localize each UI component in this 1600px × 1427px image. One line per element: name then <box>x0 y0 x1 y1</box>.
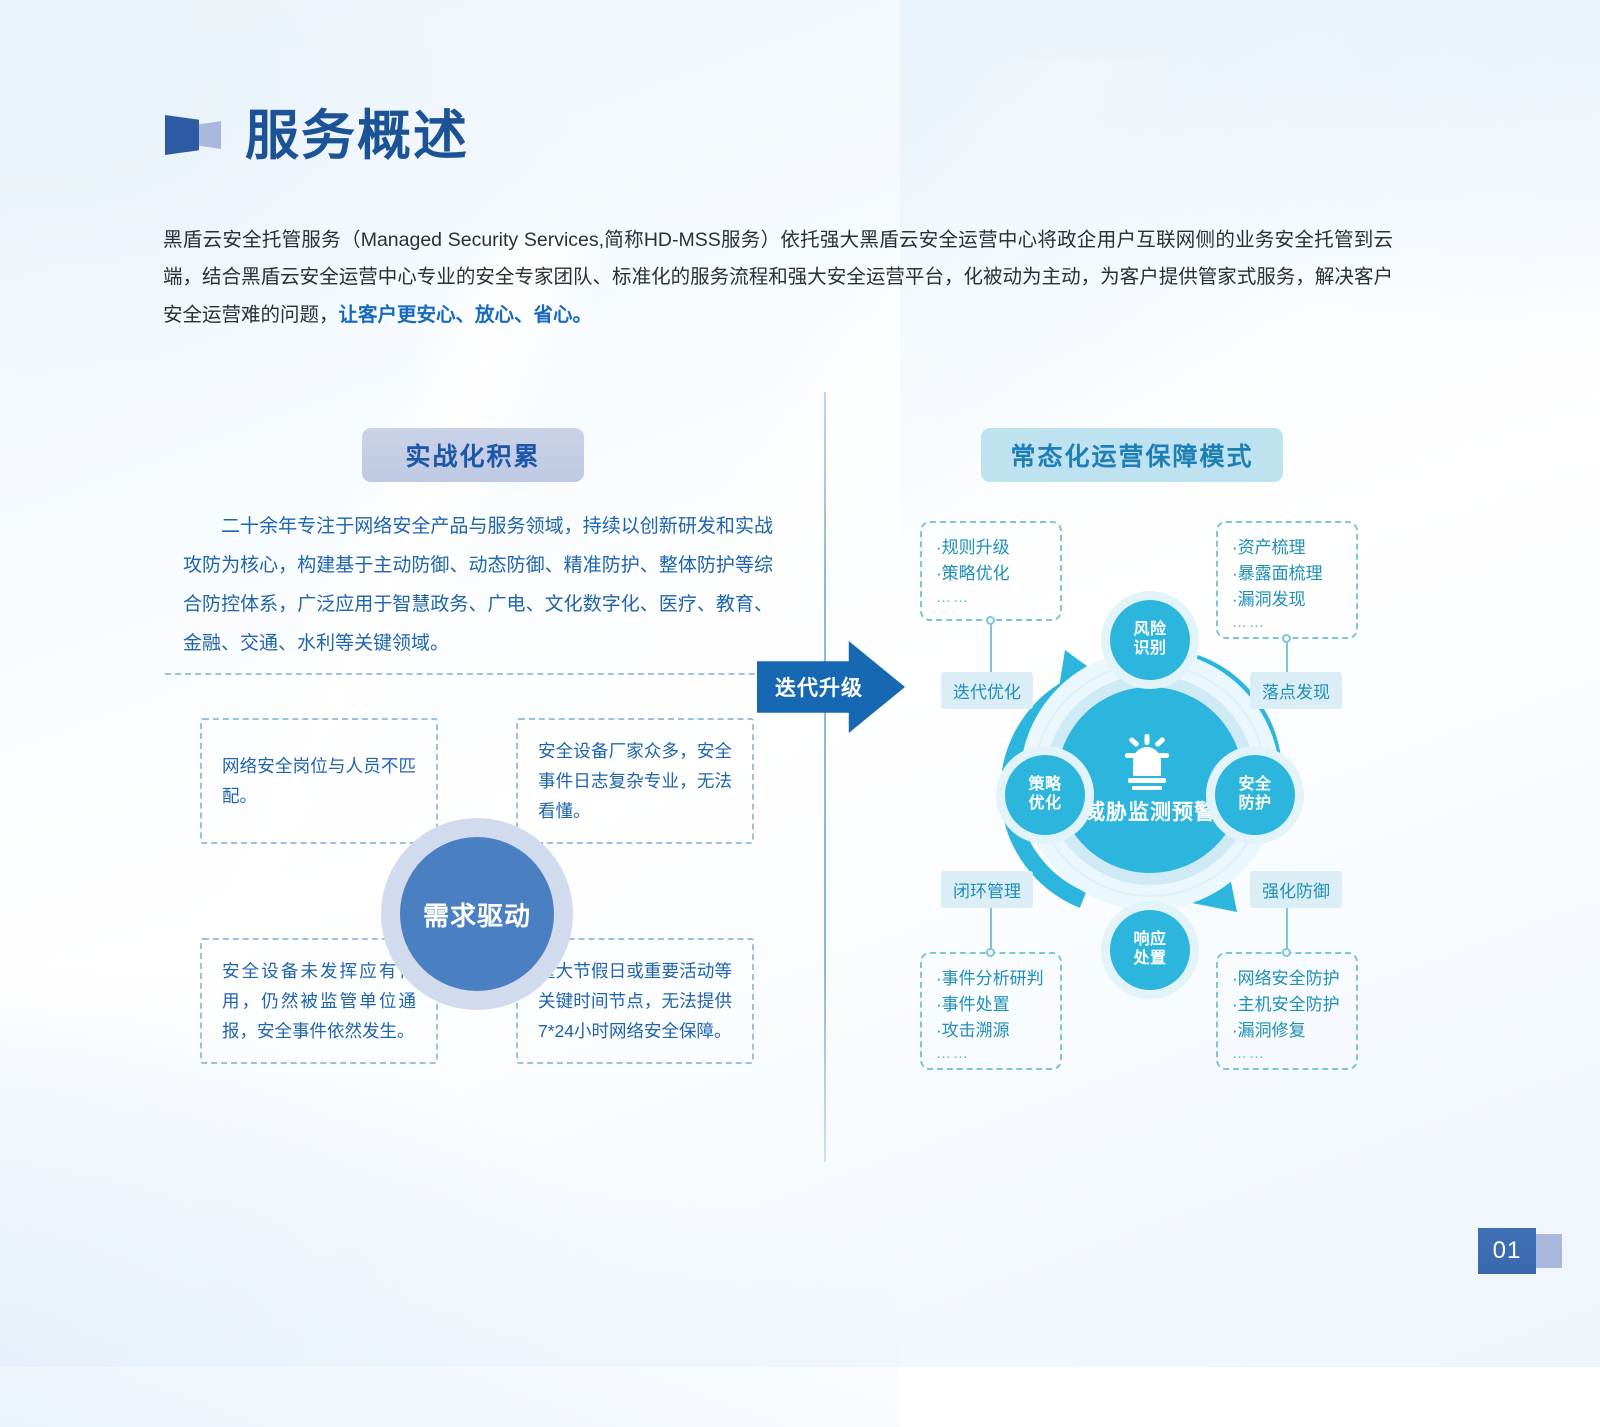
left-dashed-separator <box>165 673 805 675</box>
pain-point-box: 安全设备厂家众多，安全事件日志复杂专业，无法看懂。 <box>516 718 754 844</box>
left-badge-label: 实战化积累 <box>405 437 540 473</box>
node-line1: 安全 <box>1238 776 1271 793</box>
left-section-badge: 实战化积累 <box>362 428 584 482</box>
operations-cycle-diagram: 威胁监测预警 风险识别 安全防护 响应处置 策略优化 <box>1005 600 1295 990</box>
callout-item: ·策略优化 <box>936 561 1046 587</box>
bg-streak-4 <box>0 1007 900 1427</box>
stage-tag-iteration: 迭代优化 <box>941 672 1033 709</box>
callout-item: ·暴露面梳理 <box>1232 561 1342 587</box>
node-line1: 策略 <box>1028 776 1061 793</box>
page-number-accent <box>1536 1234 1562 1268</box>
connector-stem <box>990 906 992 952</box>
intro-paragraph: 黑盾云安全托管服务（Managed Security Services,简称HD… <box>163 222 1393 334</box>
cycle-node-protect: 安全防护 <box>1215 755 1295 835</box>
page-number-badge: 01 <box>1478 1228 1562 1274</box>
pain-point-text: 网络安全岗位与人员不匹配。 <box>202 751 436 811</box>
connector-dot <box>986 616 995 625</box>
iteration-arrow: 迭代升级 <box>757 641 905 733</box>
callout-item: ·攻击溯源 <box>936 1018 1046 1044</box>
cycle-node-risk: 风险识别 <box>1110 600 1190 680</box>
core-circle: 威胁监测预警 <box>1057 687 1243 873</box>
iteration-arrow-label: 迭代升级 <box>775 672 863 702</box>
demand-driven-circle: 需求驱动 <box>400 837 554 991</box>
slide-background: 服务概述 黑盾云安全托管服务（Managed Security Services… <box>0 0 1600 1367</box>
column-divider <box>824 392 826 1162</box>
callout-item: ·漏洞修复 <box>1232 1018 1342 1044</box>
node-line2: 防护 <box>1238 795 1271 812</box>
right-badge-label: 常态化运营保障模式 <box>1010 437 1253 473</box>
intro-highlight: 让客户更安心、放心、省心。 <box>339 304 593 326</box>
pain-point-text: 安全设备厂家众多，安全事件日志复杂专业，无法看懂。 <box>518 736 752 826</box>
page-title: 服务概述 <box>245 108 469 162</box>
node-line2: 处置 <box>1133 950 1166 967</box>
callout-item: ·主机安全防护 <box>1232 992 1342 1018</box>
right-section-badge: 常态化运营保障模式 <box>981 428 1283 482</box>
cycle-node-respond: 响应处置 <box>1110 910 1190 990</box>
page-number-box: 01 <box>1478 1228 1536 1274</box>
demand-driven-label: 需求驱动 <box>423 896 531 933</box>
callout-ellipsis: …… <box>936 1043 1046 1066</box>
callout-item: ·资产梳理 <box>1232 535 1342 561</box>
page-header: 服务概述 <box>165 108 469 162</box>
connector-stem <box>990 621 992 673</box>
left-paragraph: 二十余年专注于网络安全产品与服务领域，持续以创新研发和实战攻防为核心，构建基于主… <box>183 508 773 664</box>
pain-point-box: 网络安全岗位与人员不匹配。 <box>200 718 438 844</box>
callout-item: ·事件处置 <box>936 992 1046 1018</box>
stage-tag-landing: 落点发现 <box>1250 672 1342 709</box>
callout-ellipsis: …… <box>1232 1043 1342 1066</box>
node-line2: 识别 <box>1133 640 1166 657</box>
page-number-text: 01 <box>1493 1237 1522 1265</box>
core-label: 威胁监测预警 <box>1084 796 1216 826</box>
stage-tag-defense: 强化防御 <box>1250 871 1342 908</box>
flag-icon <box>165 113 223 157</box>
alarm-siren-icon <box>1119 734 1181 790</box>
stage-tag-closedloop: 闭环管理 <box>941 871 1033 908</box>
node-line2: 优化 <box>1028 795 1061 812</box>
node-line1: 风险 <box>1133 621 1166 638</box>
node-line1: 响应 <box>1133 931 1166 948</box>
cycle-node-policy: 策略优化 <box>1005 755 1085 835</box>
callout-item: ·规则升级 <box>936 535 1046 561</box>
connector-dot <box>986 948 995 957</box>
